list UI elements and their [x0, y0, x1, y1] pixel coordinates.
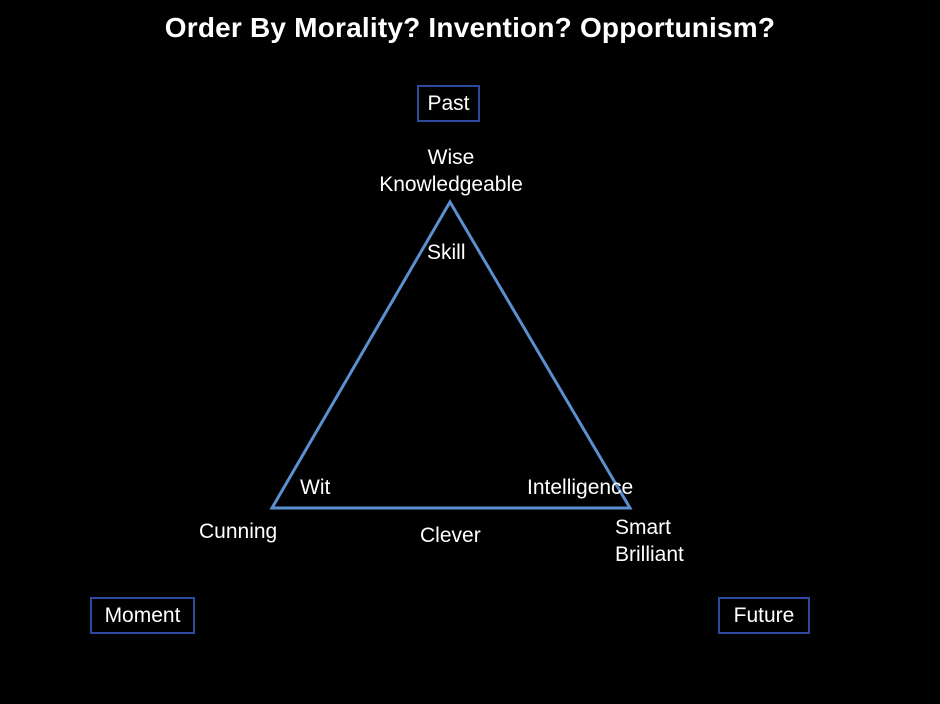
marker-box-future[interactable]: Future [718, 597, 810, 634]
marker-box-future-label: Future [734, 605, 795, 626]
slide-canvas: Order By Morality? Invention? Opportunis… [0, 0, 940, 704]
marker-box-past[interactable]: Past [417, 85, 480, 122]
marker-box-moment[interactable]: Moment [90, 597, 195, 634]
label-knowledgeable: Knowledgeable [351, 171, 551, 198]
label-skill: Skill [427, 239, 466, 266]
label-intelligence: Intelligence [527, 474, 633, 501]
page-title: Order By Morality? Invention? Opportunis… [0, 12, 940, 44]
label-brilliant: Brilliant [615, 541, 684, 568]
marker-box-past-label: Past [427, 93, 469, 114]
marker-box-moment-label: Moment [105, 605, 181, 626]
label-cunning: Cunning [199, 518, 277, 545]
label-smart: Smart [615, 514, 684, 541]
label-clever: Clever [420, 522, 481, 549]
label-right-outer: Smart Brilliant [615, 514, 684, 568]
label-wise: Wise [351, 144, 551, 171]
label-wit: Wit [300, 474, 330, 501]
label-apex-outer: Wise Knowledgeable [351, 144, 551, 198]
